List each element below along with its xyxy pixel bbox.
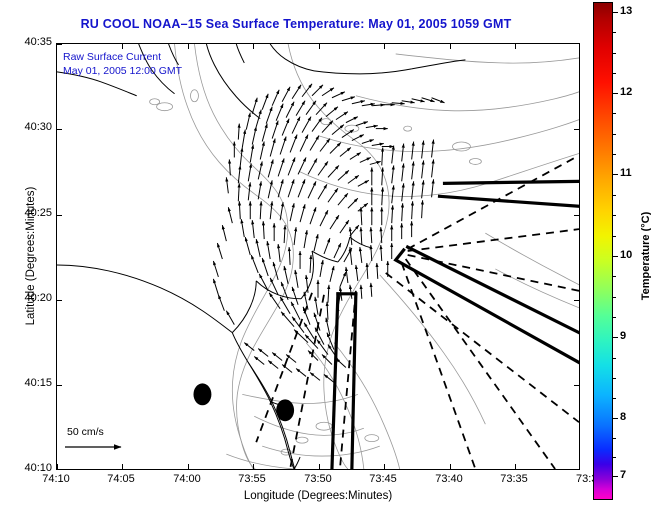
y-tick-label: 40:30: [6, 121, 52, 133]
colorbar-title: Temperature (°C): [640, 156, 651, 356]
colorbar-label: 7: [620, 469, 626, 481]
annotation-line-1: Raw Surface Current: [63, 50, 182, 64]
colorbar-tick: [613, 337, 618, 338]
x-tick-label: 73:55: [222, 473, 282, 485]
colorbar-tick: [613, 476, 618, 477]
colorbar-minor-tick: [613, 276, 616, 277]
colorbar-label: 11: [620, 167, 632, 179]
y-tick-label: 40:15: [6, 377, 52, 389]
y-tick: [57, 215, 62, 216]
plot-annotation: Raw Surface Current May 01, 2005 12:00 G…: [63, 50, 182, 78]
x-tick: [188, 464, 189, 469]
x-tick-top: [384, 44, 385, 49]
colorbar-tick: [613, 12, 618, 13]
y-tick-right: [574, 129, 579, 130]
colorbar-minor-tick: [613, 398, 616, 399]
colorbar-minor-tick: [613, 154, 616, 155]
colorbar-tick: [613, 174, 618, 175]
x-tick-label: 73:45: [353, 473, 413, 485]
y-axis-title: Latitude (Degrees:Minutes): [25, 136, 37, 376]
y-tick-label: 40:35: [6, 36, 52, 48]
colorbar-minor-tick: [613, 317, 616, 318]
map-plot: [57, 44, 579, 469]
x-tick-label: 74:10: [26, 473, 86, 485]
x-tick-top: [450, 44, 451, 49]
x-tick-top: [122, 44, 123, 49]
y-tick-label: 40:10: [6, 462, 52, 474]
x-tick-label: 73:35: [484, 473, 544, 485]
y-tick-right: [574, 215, 579, 216]
colorbar-minor-tick: [613, 438, 616, 439]
colorbar-minor-tick: [613, 378, 616, 379]
x-tick: [253, 464, 254, 469]
x-tick: [57, 464, 58, 469]
bathymetry-contours: [150, 44, 579, 469]
colorbar-minor-tick: [613, 297, 616, 298]
x-tick: [319, 464, 320, 469]
colorbar-label: 10: [620, 249, 632, 261]
colorbar-tick: [613, 418, 618, 419]
y-tick: [57, 385, 62, 386]
colorbar-tick: [613, 93, 618, 94]
station-marker: [193, 383, 211, 405]
colorbar-minor-tick: [613, 113, 616, 114]
x-tick: [384, 464, 385, 469]
scale-arrow-icon: [63, 441, 133, 453]
x-tick-top: [188, 44, 189, 49]
colorbar-minor-tick: [613, 73, 616, 74]
station-markers: [193, 383, 294, 421]
y-tick: [57, 300, 62, 301]
x-tick: [450, 464, 451, 469]
colorbar-minor-tick: [613, 53, 616, 54]
x-tick-label: 73:40: [419, 473, 479, 485]
scale-label: 50 cm/s: [63, 426, 183, 438]
coastline: [57, 44, 465, 469]
annotation-line-2: May 01, 2005 12:00 GMT: [63, 64, 182, 78]
x-tick-label: 74:05: [91, 473, 151, 485]
colorbar-label: 8: [620, 411, 626, 423]
colorbar-minor-tick: [613, 32, 616, 33]
surface-current-vectors: [213, 84, 444, 383]
page-title: RU COOL NOAA–15 Sea Surface Temperature:…: [0, 17, 592, 31]
x-tick-label: 74:00: [157, 473, 217, 485]
colorbar-minor-tick: [613, 134, 616, 135]
station-marker: [276, 399, 294, 421]
colorbar-minor-tick: [613, 195, 616, 196]
shipping-lanes: [332, 181, 579, 469]
x-tick-top: [253, 44, 254, 49]
colorbar-minor-tick: [613, 236, 616, 237]
y-tick-right: [574, 385, 579, 386]
colorbar-label: 13: [620, 5, 632, 17]
colorbar-minor-tick: [613, 457, 616, 458]
colorbar-label: 9: [620, 330, 626, 342]
colorbar-label: 12: [620, 86, 632, 98]
x-tick-top: [515, 44, 516, 49]
y-tick-right: [574, 300, 579, 301]
x-axis-title: Longitude (Degrees:Minutes): [56, 490, 580, 502]
y-tick: [57, 44, 62, 45]
scale-legend: 50 cm/s: [63, 426, 183, 453]
colorbar: [593, 2, 613, 500]
x-tick: [122, 464, 123, 469]
map-axes: Raw Surface Current May 01, 2005 12:00 G…: [56, 43, 580, 470]
x-tick-label: 73:50: [288, 473, 348, 485]
colorbar-tick: [613, 256, 618, 257]
x-tick: [515, 464, 516, 469]
figure-root: RU COOL NOAA–15 Sea Surface Temperature:…: [0, 0, 651, 515]
y-tick: [57, 129, 62, 130]
colorbar-minor-tick: [613, 358, 616, 359]
x-tick-top: [319, 44, 320, 49]
colorbar-minor-tick: [613, 215, 616, 216]
